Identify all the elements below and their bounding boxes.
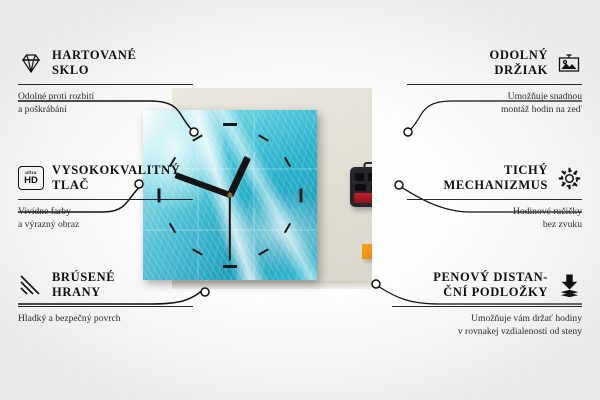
divider	[407, 84, 582, 85]
clock-second-hand	[229, 195, 231, 261]
gear-icon	[556, 165, 582, 191]
feature-durable-hanger: ODOLNÝ DRŽIAK Umožňuje snadnou montáž ho…	[407, 48, 582, 116]
divider	[18, 306, 193, 307]
clock-mechanism	[350, 167, 372, 207]
clock-center-hub	[228, 193, 233, 198]
feature-title: VYSOKOKVALITNÝ TLAČ	[52, 163, 180, 194]
ground-edges-icon	[18, 272, 44, 298]
feature-silent-mechanism: TICHÝ MECHANIZMUS Hodinové ručičky bez z…	[407, 163, 582, 231]
feature-title: HARTOVANÉ SKLO	[52, 48, 136, 79]
infographic-canvas: HARTOVANÉ SKLO Odolné proti rozbití a po…	[0, 0, 600, 400]
feature-description: Hladký a bezpečný povrch	[18, 312, 193, 325]
diamond-icon	[18, 50, 44, 76]
feature-title: PENOVÝ DISTAN- ČNÍ PODLOŽKY	[433, 270, 548, 301]
foam-spacer-pad	[362, 244, 372, 259]
feature-description: Umožňuje vám držať hodiny v rovnakej vzd…	[392, 312, 582, 338]
feature-description: Umožňuje snadnou montáž hodin na zeď	[407, 90, 582, 116]
feature-description: Odolné proti rozbití a poškrábání	[18, 90, 193, 116]
feature-title: TICHÝ MECHANIZMUS	[443, 163, 548, 194]
divider	[392, 306, 582, 307]
feature-high-quality-print: ultra HD VYSOKOKVALITNÝ TLAČ Vivídne far…	[18, 163, 193, 231]
feature-title: BRÚSENÉ HRANY	[52, 270, 115, 301]
divider	[18, 84, 193, 85]
feature-title: ODOLNÝ DRŽIAK	[490, 48, 548, 79]
feature-description: Vivídne farby a výrazný obraz	[18, 205, 193, 231]
battery	[354, 193, 372, 203]
divider	[407, 199, 582, 200]
ultra-hd-icon: ultra HD	[18, 165, 44, 191]
feature-description: Hodinové ručičky bez zvuku	[407, 205, 582, 231]
divider	[18, 199, 193, 200]
arrow-down-layers-icon	[556, 272, 582, 298]
feature-ground-edges: BRÚSENÉ HRANY Hladký a bezpečný povrch	[18, 270, 193, 325]
mechanism-hanger	[364, 162, 373, 172]
feature-foam-spacers: PENOVÝ DISTAN- ČNÍ PODLOŽKY Umožňuje vám…	[392, 270, 582, 338]
feature-tempered-glass: HARTOVANÉ SKLO Odolné proti rozbití a po…	[18, 48, 193, 116]
hd-label: HD	[24, 176, 38, 186]
picture-hanger-icon	[556, 50, 582, 76]
